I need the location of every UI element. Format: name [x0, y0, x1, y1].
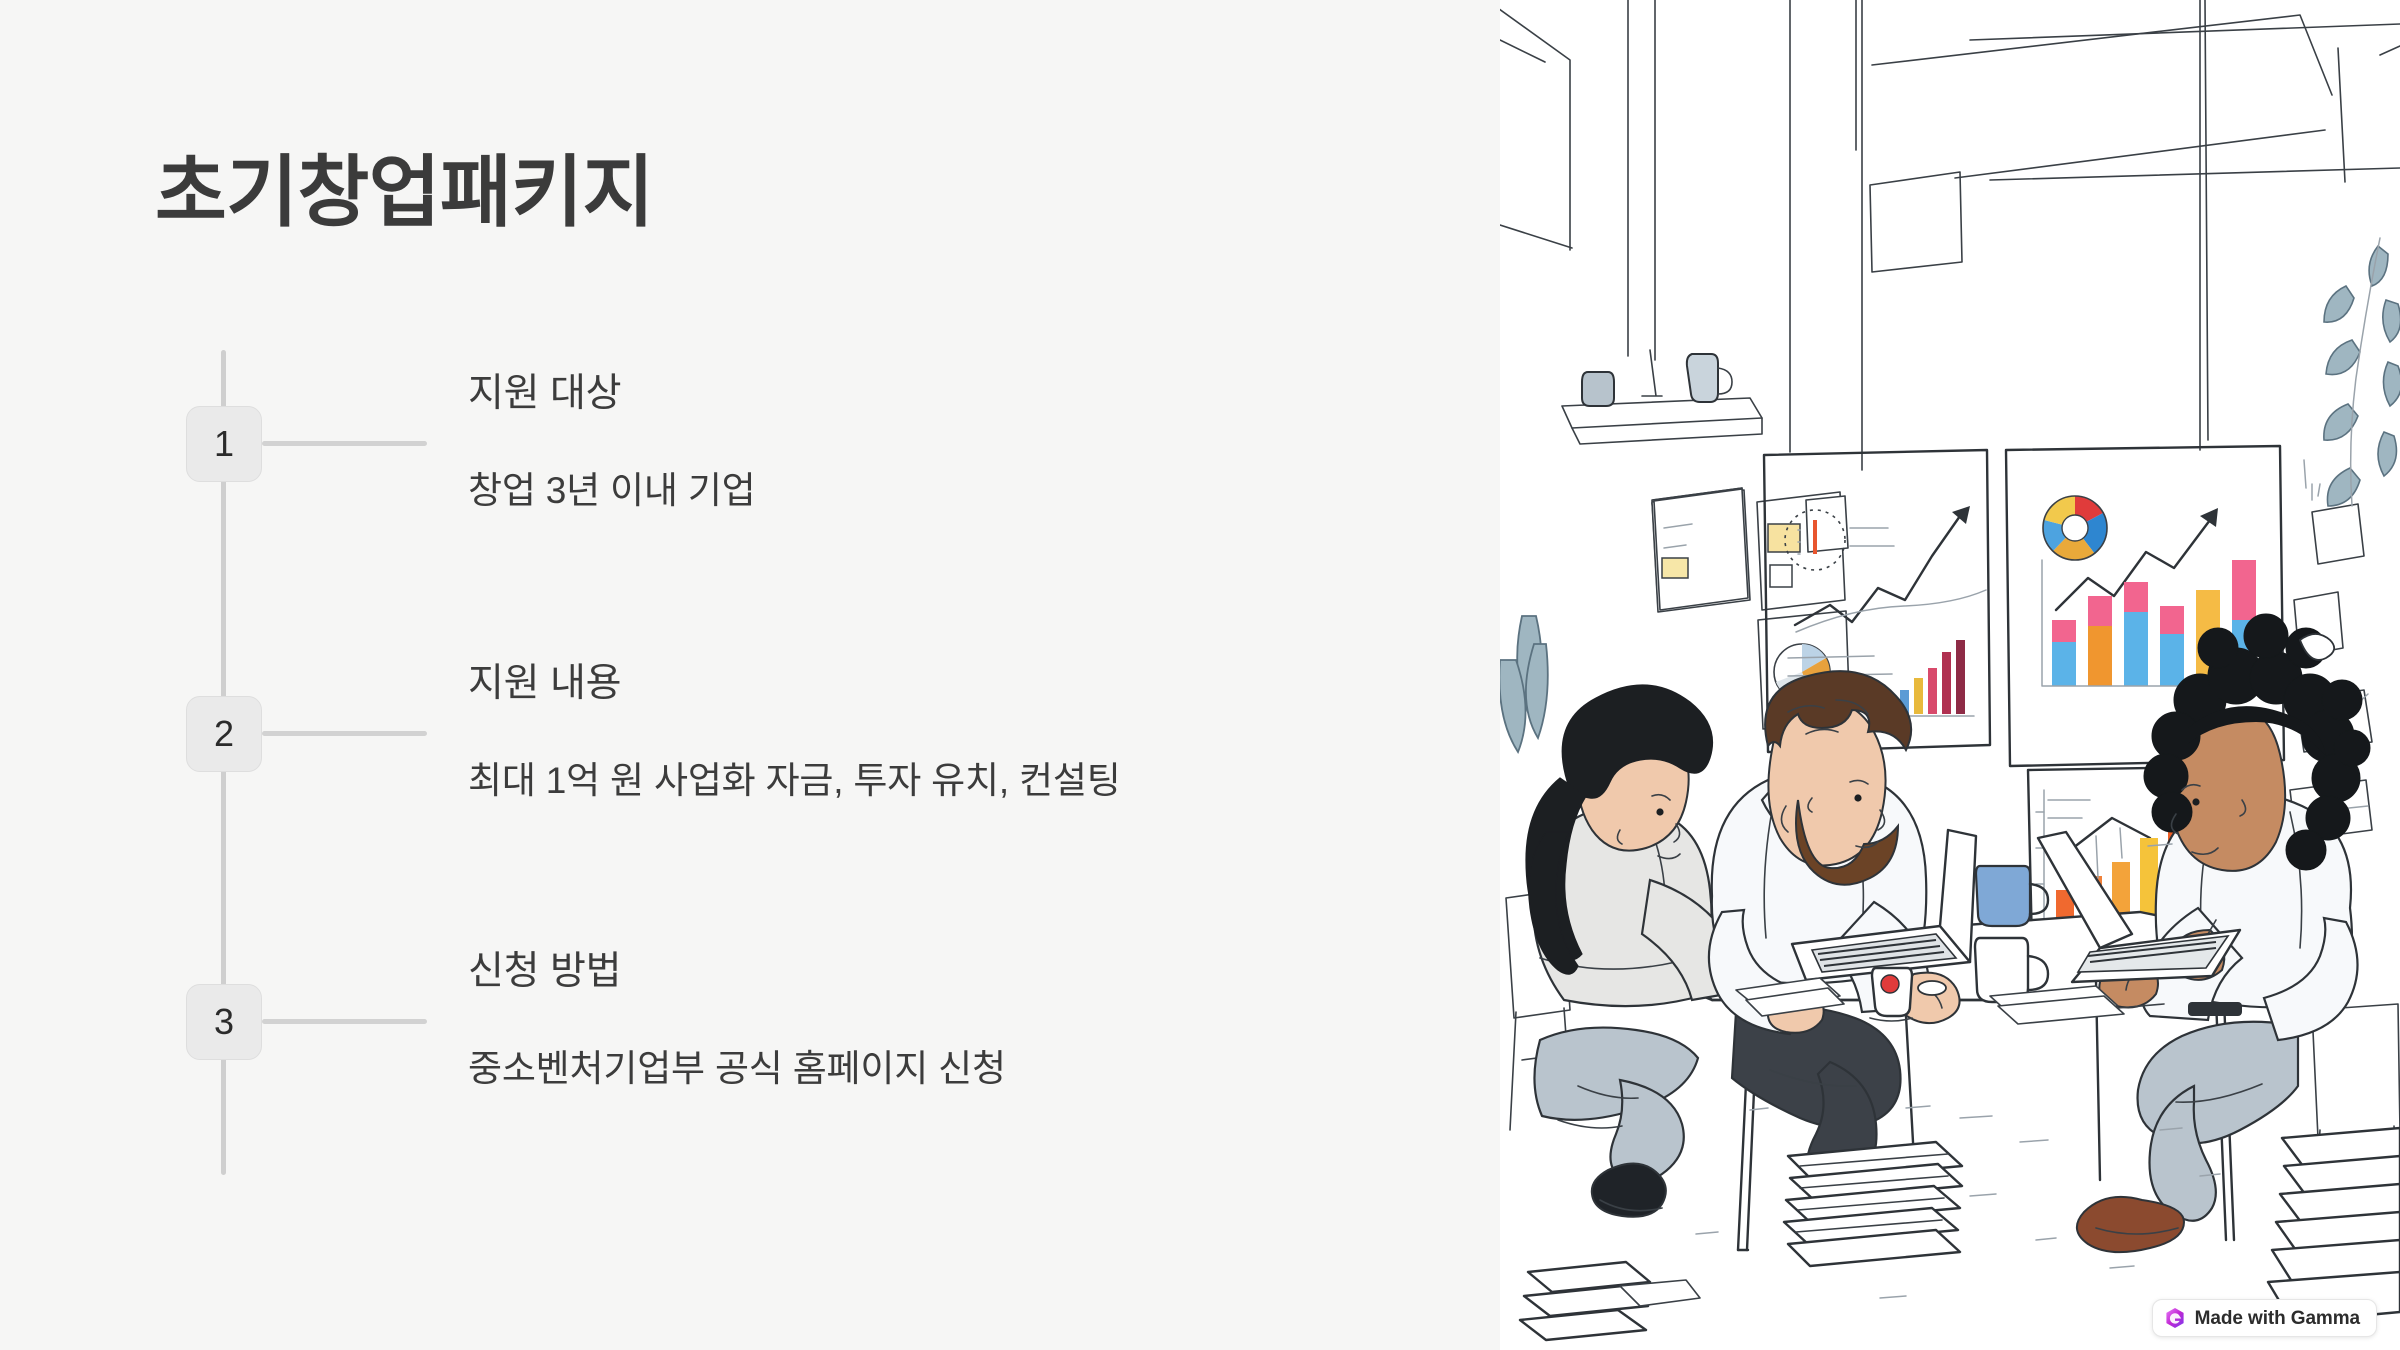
timeline-connector [262, 731, 427, 736]
timeline-step-badge[interactable]: 3 [186, 984, 262, 1060]
timeline-item-heading: 지원 내용 [468, 658, 1468, 711]
timeline-connector [262, 441, 427, 446]
made-with-gamma-label: Made with Gamma [2195, 1309, 2360, 1328]
illustration-panel: .ln { fill:none; stroke:#2e3338; stroke-… [1500, 0, 2400, 1350]
timeline-item: 3 신청 방법 중소벤처기업부 공식 홈페이지 신청 [0, 946, 1500, 1186]
slide-root: 초기창업패키지 1 지원 대상 창업 3년 이내 기업 2 지원 내용 최대 1… [0, 0, 2400, 1350]
gamma-logo-icon [2164, 1307, 2186, 1329]
timeline-step-badge[interactable]: 2 [186, 696, 262, 772]
timeline-item: 1 지원 대상 창업 3년 이내 기업 [0, 368, 1500, 608]
timeline-item: 2 지원 내용 최대 1억 원 사업화 자금, 투자 유치, 컨설팅 [0, 658, 1500, 898]
timeline-item-text: 신청 방법 중소벤처기업부 공식 홈페이지 신청 [468, 946, 1468, 1094]
timeline-step-badge[interactable]: 1 [186, 406, 262, 482]
timeline: 1 지원 대상 창업 3년 이내 기업 2 지원 내용 최대 1억 원 사업화 … [0, 340, 1500, 1200]
timeline-item-text: 지원 내용 최대 1억 원 사업화 자금, 투자 유치, 컨설팅 [468, 658, 1468, 806]
timeline-connector [262, 1019, 427, 1024]
timeline-item-body: 중소벤처기업부 공식 홈페이지 신청 [468, 1043, 1468, 1095]
page-title: 초기창업패키지 [155, 150, 654, 236]
timeline-item-heading: 지원 대상 [468, 368, 1468, 421]
timeline-item-heading: 신청 방법 [468, 946, 1468, 999]
timeline-item-body: 최대 1억 원 사업화 자금, 투자 유치, 컨설팅 [468, 755, 1468, 807]
timeline-item-body: 창업 3년 이내 기업 [468, 465, 1468, 517]
timeline-item-text: 지원 대상 창업 3년 이내 기업 [468, 368, 1468, 516]
content-panel: 초기창업패키지 1 지원 대상 창업 3년 이내 기업 2 지원 내용 최대 1… [0, 0, 1500, 1350]
made-with-gamma-badge[interactable]: Made with Gamma [2152, 1299, 2377, 1337]
office-meeting-illustration: .ln { fill:none; stroke:#2e3338; stroke-… [1500, 0, 2400, 1350]
